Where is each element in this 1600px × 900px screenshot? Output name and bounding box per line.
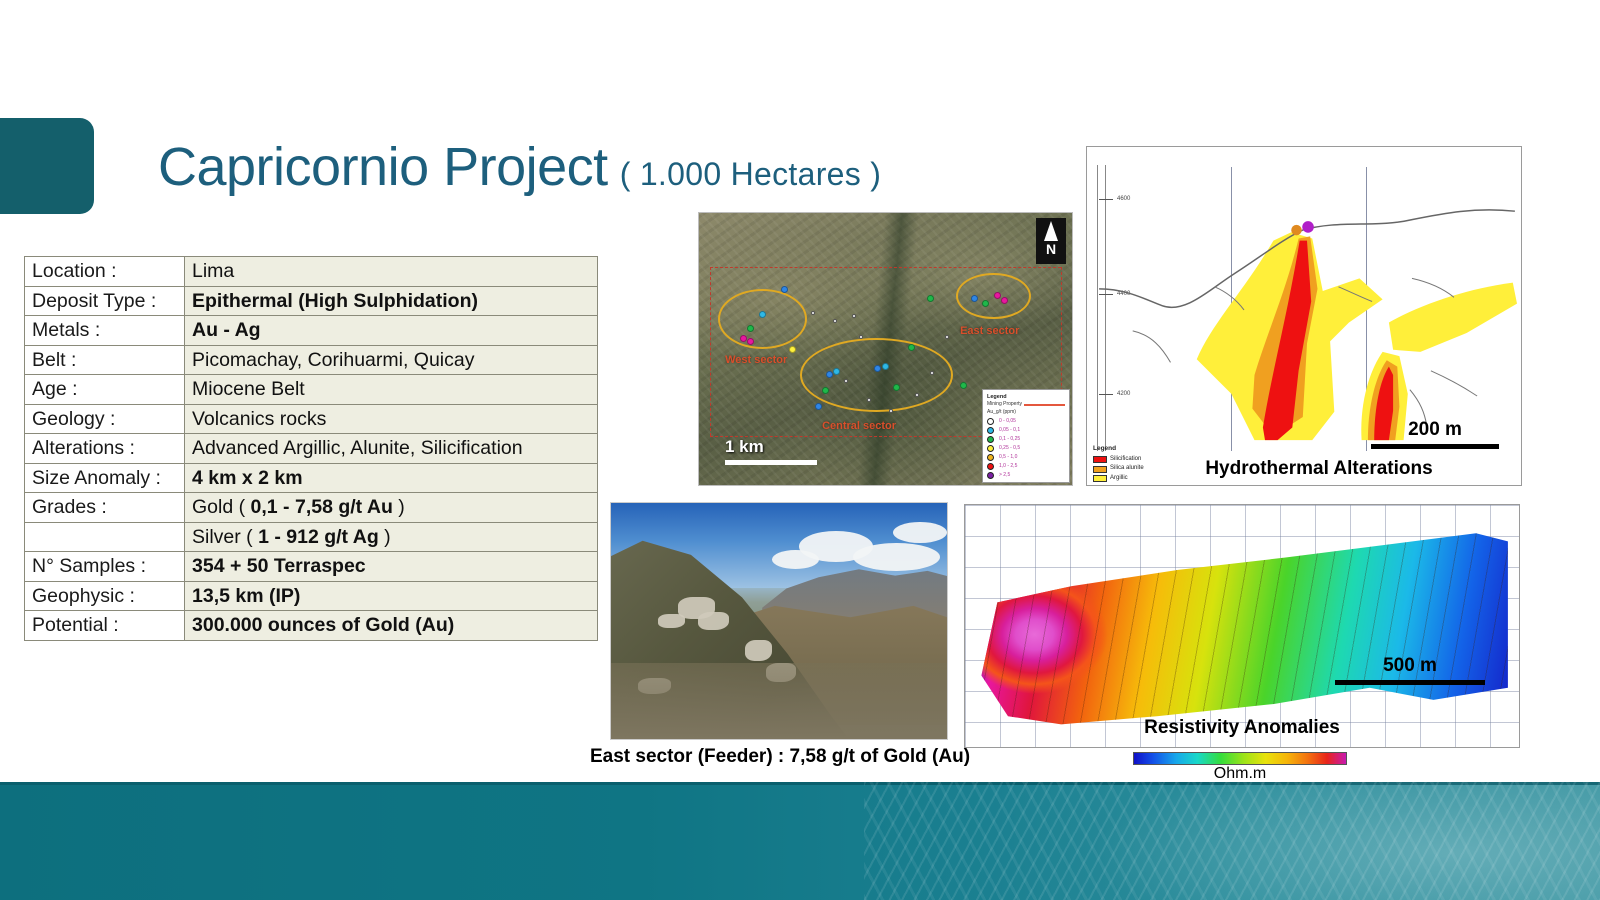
map-legend-swatch [987, 445, 994, 452]
footer-decorative-band [0, 782, 1600, 900]
map-legend-swatch [987, 463, 994, 470]
hydro-scale-bar: 200 m [1371, 419, 1499, 449]
fact-value: Advanced Argillic, Alunite, Silicificati… [185, 434, 598, 464]
sample-dot [867, 398, 871, 402]
title-subtitle-text: ( 1.000 Hectares ) [620, 156, 882, 193]
map-legend-unit-label: Au_g/t (ppm) [987, 409, 1065, 417]
table-row: Grades :Gold ( 0,1 - 7,58 g/t Au ) [25, 493, 598, 523]
fact-label: Size Anomaly : [25, 463, 185, 493]
north-arrow-label: N [1046, 241, 1056, 257]
map-legend-class-row: 0 - 0,05 [987, 418, 1065, 426]
fact-label: Location : [25, 257, 185, 287]
map-scale-bar: 1 km [725, 437, 817, 465]
mining-property-boundary-west [710, 267, 711, 436]
fact-value: 13,5 km (IP) [185, 581, 598, 611]
fact-value: Picomachay, Corihuarmi, Quicay [185, 345, 598, 375]
fact-label: Potential : [25, 611, 185, 641]
map-legend-swatch [987, 454, 994, 461]
table-row: Size Anomaly :4 km x 2 km [25, 463, 598, 493]
fact-value: Epithermal (High Sulphidation) [185, 286, 598, 316]
map-legend-swatch [987, 427, 994, 434]
footer-wave-texture [864, 782, 1600, 900]
table-row: Potential :300.000 ounces of Gold (Au) [25, 611, 598, 641]
sample-dot [759, 311, 766, 318]
sample-dot [915, 393, 919, 397]
photo-outcrop-rock [698, 612, 728, 631]
table-row: Age :Miocene Belt [25, 375, 598, 405]
hydrothermal-section-plot: 4600 4400 4200 [1097, 165, 1517, 451]
resistivity-scale-label: 500 m [1335, 655, 1485, 677]
field-photo-caption: East sector (Feeder) : 7,58 g/t of Gold … [560, 746, 1000, 768]
table-row: Geology :Volcanics rocks [25, 404, 598, 434]
sample-dot [971, 295, 978, 302]
table-row: Deposit Type :Epithermal (High Sulphidat… [25, 286, 598, 316]
map-legend-class-label: 0,25 - 0,5 [999, 445, 1020, 453]
map-legend-class-row: 0,1 - 0,25 [987, 436, 1065, 444]
map-legend: Legend Mining Property Au_g/t (ppm) 0 - … [982, 389, 1070, 483]
collar-marker-purple [1302, 221, 1314, 233]
hydrothermal-caption: Hydrothermal Alterations [1087, 458, 1521, 480]
map-legend-swatch [987, 418, 994, 425]
table-row: Alterations :Advanced Argillic, Alunite,… [25, 434, 598, 464]
mining-property-boundary-north [710, 267, 1061, 268]
fact-label: Alterations : [25, 434, 185, 464]
map-legend-swatch [987, 436, 994, 443]
map-legend-class-row: 1,0 - 2,5 [987, 463, 1065, 471]
map-legend-property-row: Mining Property [987, 401, 1065, 409]
sample-dot [994, 292, 1001, 299]
map-legend-class-row: 0,5 - 1,0 [987, 454, 1065, 462]
hydro-legend-title: Legend [1093, 444, 1144, 454]
fact-label: Geophysic : [25, 581, 185, 611]
resistivity-anomalies-panel: 500 m Resistivity Anomalies [964, 504, 1520, 748]
photo-outcrop-rock [745, 640, 772, 661]
title-main-text: Capricornio Project [158, 136, 608, 198]
resistivity-colorbar-label: Ohm.m [1133, 765, 1347, 783]
map-legend-swatch [987, 472, 994, 479]
resistivity-scale-bar: 500 m [1335, 655, 1485, 685]
map-legend-class-label: 1,0 - 2,5 [999, 463, 1017, 471]
map-legend-class-label: 0,1 - 0,25 [999, 436, 1020, 444]
fact-value: Silver ( 1 - 912 g/t Ag ) [185, 522, 598, 552]
fact-value: 300.000 ounces of Gold (Au) [185, 611, 598, 641]
map-legend-class-row: > 2,5 [987, 472, 1065, 480]
resistivity-caption: Resistivity Anomalies [965, 717, 1519, 739]
hydrothermal-alterations-panel: 4600 4400 4200 [1086, 146, 1522, 486]
fact-label [25, 522, 185, 552]
anomaly-ellipse-central [800, 338, 953, 411]
page-title: Capricornio Project( 1.000 Hectares ) [158, 136, 881, 198]
fact-value: Volcanics rocks [185, 404, 598, 434]
anomaly-ellipse-west [718, 289, 808, 349]
map-legend-class-label: 0,05 - 0,1 [999, 427, 1020, 435]
sample-dot [882, 363, 889, 370]
sample-dot [927, 295, 934, 302]
fact-label: Belt : [25, 345, 185, 375]
photo-cloud [893, 522, 947, 543]
fact-label: Geology : [25, 404, 185, 434]
resistivity-colorbar: Ohm.m [1133, 752, 1347, 783]
map-legend-title: Legend [987, 393, 1065, 401]
sample-dot [811, 311, 815, 315]
table-row: Belt :Picomachay, Corihuarmi, Quicay [25, 345, 598, 375]
fact-value: 4 km x 2 km [185, 463, 598, 493]
field-photograph [610, 502, 948, 740]
map-legend-class-label: 0 - 0,05 [999, 418, 1016, 426]
resistivity-colorbar-gradient [1133, 752, 1347, 765]
satellite-anomaly-map: West sector Central sector East sector N… [698, 212, 1073, 486]
hydro-scale-label: 200 m [1371, 419, 1499, 441]
topography-and-alteration-bodies [1097, 165, 1517, 459]
project-facts-table: Location :LimaDeposit Type :Epithermal (… [24, 256, 598, 641]
decorative-corner-tab [0, 118, 94, 214]
north-arrow-icon: N [1036, 218, 1066, 264]
sample-dot [789, 346, 796, 353]
fact-label: Grades : [25, 493, 185, 523]
photo-outcrop-rock [658, 614, 685, 628]
fact-value: Au - Ag [185, 316, 598, 346]
sample-dot [960, 382, 967, 389]
sample-dot [930, 371, 934, 375]
fact-value: 354 + 50 Terraspec [185, 552, 598, 582]
fact-value: Miocene Belt [185, 375, 598, 405]
sector-label-west: West sector [725, 354, 787, 366]
sample-dot [908, 344, 915, 351]
sector-label-east: East sector [960, 325, 1019, 337]
sector-label-central: Central sector [822, 420, 896, 432]
table-row: Metals :Au - Ag [25, 316, 598, 346]
map-legend-class-label: 0,5 - 1,0 [999, 454, 1017, 462]
map-legend-class-label: > 2,5 [999, 472, 1010, 480]
map-legend-class-row: 0,05 - 0,1 [987, 427, 1065, 435]
fact-label: N° Samples : [25, 552, 185, 582]
fact-value: Lima [185, 257, 598, 287]
map-legend-property-line [1024, 404, 1065, 406]
table-row: Geophysic :13,5 km (IP) [25, 581, 598, 611]
collar-marker-orange [1291, 225, 1302, 236]
fact-label: Age : [25, 375, 185, 405]
map-scale-label: 1 km [725, 437, 764, 456]
fact-label: Metals : [25, 316, 185, 346]
photo-ground [611, 663, 947, 739]
table-row: Silver ( 1 - 912 g/t Ag ) [25, 522, 598, 552]
table-row: N° Samples :354 + 50 Terraspec [25, 552, 598, 582]
argillic-body-east [1389, 283, 1517, 352]
sample-dot [826, 371, 833, 378]
fact-value: Gold ( 0,1 - 7,58 g/t Au ) [185, 493, 598, 523]
table-row: Location :Lima [25, 257, 598, 287]
map-legend-class-row: 0,25 - 0,5 [987, 445, 1065, 453]
map-legend-property-label: Mining Property [987, 401, 1022, 409]
fact-label: Deposit Type : [25, 286, 185, 316]
sample-dot [852, 314, 856, 318]
